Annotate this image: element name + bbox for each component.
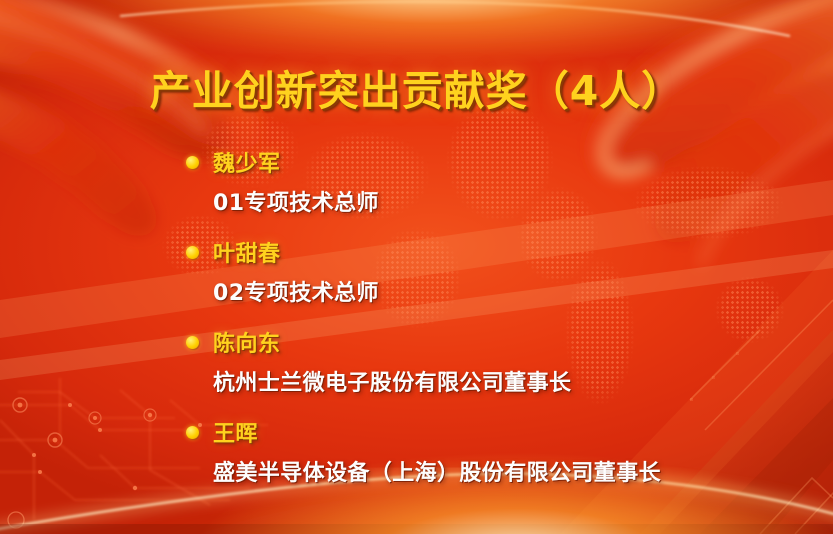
bullet-point-icon bbox=[186, 336, 199, 349]
honoree-name: 王晖 bbox=[213, 416, 258, 448]
honoree-name: 叶甜春 bbox=[213, 236, 281, 268]
honoree-name: 魏少军 bbox=[213, 146, 281, 178]
bullet-point-icon bbox=[186, 426, 199, 439]
honoree-description: 盛美半导体设备（上海）股份有限公司董事长 bbox=[213, 455, 806, 487]
honoree-name-row: 魏少军 bbox=[186, 148, 806, 176]
slide-title: 产业创新突出贡献奖（4人） bbox=[0, 57, 833, 117]
list-item: 陈向东 杭州士兰微电子股份有限公司董事长 bbox=[186, 328, 806, 397]
award-slide: 产业创新突出贡献奖（4人） 魏少军 01专项技术总师 叶甜春 02专项技术总师 bbox=[0, 0, 833, 534]
list-item: 魏少军 01专项技术总师 bbox=[186, 148, 806, 217]
honoree-name-row: 叶甜春 bbox=[186, 238, 806, 266]
honoree-name: 陈向东 bbox=[213, 326, 281, 358]
honoree-name-row: 王晖 bbox=[186, 418, 806, 446]
honoree-description: 02专项技术总师 bbox=[213, 275, 806, 307]
bullet-point-icon bbox=[186, 156, 199, 169]
honoree-name-row: 陈向东 bbox=[186, 328, 806, 356]
list-item: 王晖 盛美半导体设备（上海）股份有限公司董事长 bbox=[186, 418, 806, 487]
slide-content: 产业创新突出贡献奖（4人） 魏少军 01专项技术总师 叶甜春 02专项技术总师 bbox=[0, 0, 833, 534]
honoree-description: 01专项技术总师 bbox=[213, 185, 806, 217]
honoree-list: 魏少军 01专项技术总师 叶甜春 02专项技术总师 陈向东 杭州士兰微电子股份有… bbox=[186, 148, 806, 487]
list-item: 叶甜春 02专项技术总师 bbox=[186, 238, 806, 307]
bullet-point-icon bbox=[186, 246, 199, 259]
honoree-description: 杭州士兰微电子股份有限公司董事长 bbox=[213, 365, 806, 397]
